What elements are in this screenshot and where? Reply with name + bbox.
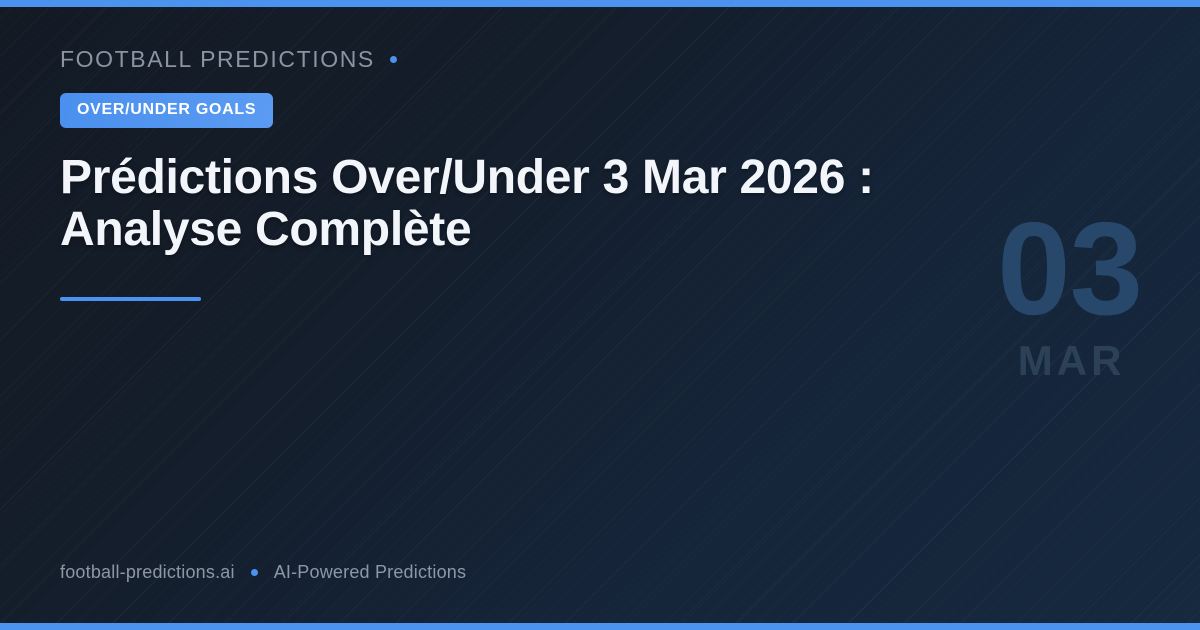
card-content: FOOTBALL PREDICTIONS OVER/UNDER GOALS Pr… — [60, 42, 1020, 301]
page-title: Prédictions Over/Under 3 Mar 2026 : Anal… — [60, 152, 1000, 256]
title-accent-rule — [60, 297, 201, 301]
category-badge: OVER/UNDER GOALS — [60, 93, 273, 128]
footer-tagline: AI-Powered Predictions — [274, 562, 467, 583]
date-month: MAR — [997, 337, 1142, 385]
og-share-card: 03 MAR FOOTBALL PREDICTIONS OVER/UNDER G… — [0, 0, 1200, 630]
eyebrow-row: FOOTBALL PREDICTIONS — [60, 42, 1020, 76]
eyebrow-label: FOOTBALL PREDICTIONS — [60, 46, 375, 73]
top-accent-bar — [0, 0, 1200, 7]
site-domain: football-predictions.ai — [60, 562, 235, 583]
bullet-dot-icon — [390, 56, 397, 63]
bullet-dot-icon — [251, 569, 258, 576]
bottom-accent-bar — [0, 623, 1200, 630]
footer: football-predictions.ai AI-Powered Predi… — [60, 562, 466, 583]
